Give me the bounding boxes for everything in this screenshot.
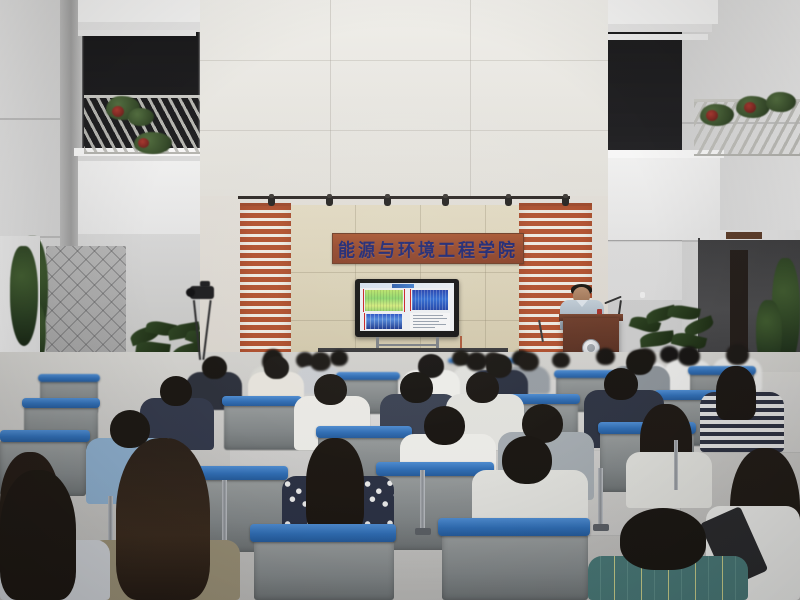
slide-title-chip [392,284,414,288]
stage-wall-seam [200,130,608,131]
chair-leg [674,440,678,490]
audience-head [202,356,227,379]
audience-head [466,372,499,403]
right-slab-rib [600,24,712,32]
chair-top-rail[interactable] [22,398,100,408]
stage-wall-seam [200,60,608,61]
left-lattice-panel [46,246,126,356]
right-planter-red-flower [744,102,756,113]
lecture-hall-photo: 能源与环境工程学院 [0,0,800,600]
right-ceiling-slab [600,0,718,24]
ceiling-speaker [640,292,645,298]
audience-hair-long-front [116,438,210,600]
stage-wall-seam [330,0,331,196]
chair-top-rail[interactable] [316,426,412,438]
left-planter-greenery [128,108,154,126]
tv-stand-crossbar [376,344,439,346]
track-light-rail [238,196,570,199]
audience-head [726,344,749,365]
left-slat-cap [240,203,291,206]
audience-head [314,374,347,405]
audience-head [552,352,570,368]
slide-axis [410,289,411,311]
chair-leg [222,480,227,546]
track-spotlight[interactable] [326,197,333,206]
chair-leg [598,468,603,526]
right-balcony-slab [600,150,720,240]
left-slab-rib [78,30,196,36]
audience-head [518,352,539,371]
chair-foot [415,528,431,535]
chair-top-rail[interactable] [336,372,400,380]
track-spotlight[interactable] [384,197,391,206]
audience-hair-long [0,470,76,600]
right-slab-rib [604,34,708,40]
audience-head [424,406,465,445]
track-spotlight[interactable] [562,197,569,206]
right-door-signboard [726,232,762,239]
audience-head [502,436,552,484]
presentation-screen[interactable] [360,283,454,331]
audience-head [466,352,487,371]
right-planter-red-flower [706,110,718,121]
audience-hair-long [716,366,756,420]
left-planter-red-flower [112,106,124,117]
chair-leg [420,470,425,530]
video-camera-viewfinder [200,281,210,287]
chair-foot [593,524,609,531]
chair-top-rail[interactable] [250,524,396,542]
track-spotlight[interactable] [268,197,275,206]
left-railing-top-bar [84,95,200,97]
department-sign-plaque: 能源与环境工程学院 [332,233,524,264]
chair-top-rail[interactable] [438,518,590,536]
video-camera-lens-icon [186,288,195,297]
audience-head [596,348,615,365]
slide-axis [364,313,365,330]
slide-axis [363,289,364,312]
slide-panel-heatmap-blue-2 [366,314,402,329]
audience-hair-long [306,438,364,534]
track-spotlight[interactable] [505,197,512,206]
left-climbing-vine [10,246,38,346]
track-spotlight[interactable] [442,197,449,206]
audience-head [264,356,289,379]
chair-top-rail[interactable] [222,396,302,406]
audience-head [400,372,433,403]
audience-body [626,452,712,508]
stage-upper-wall [200,0,608,196]
slide-colorbar [404,289,405,312]
chair-top-rail[interactable] [0,430,90,442]
chair-top-rail[interactable] [38,374,100,382]
department-sign-text: 能源与环境工程学院 [338,235,518,262]
left-terracotta-slat-panel [240,205,291,360]
slide-panel-text-table [410,313,450,330]
audience-head [330,350,348,366]
left-balcony-lip-shadow [78,156,204,161]
audience-head-front [620,508,706,570]
slide-panel-heatmap-green [365,290,403,311]
right-planter-greenery [766,92,796,112]
left-planter-red-flower [138,138,149,148]
chair-seatback [224,404,300,450]
audience-head [678,346,700,366]
chair-seatback [442,534,588,600]
stage-wall-seam [470,0,471,196]
chair-seatback [254,540,394,600]
audience-head [604,368,638,400]
right-slat-cap [519,203,592,206]
audience-head [310,352,331,371]
audience-head [160,376,192,406]
slide-panel-heatmap-blue [412,290,448,310]
